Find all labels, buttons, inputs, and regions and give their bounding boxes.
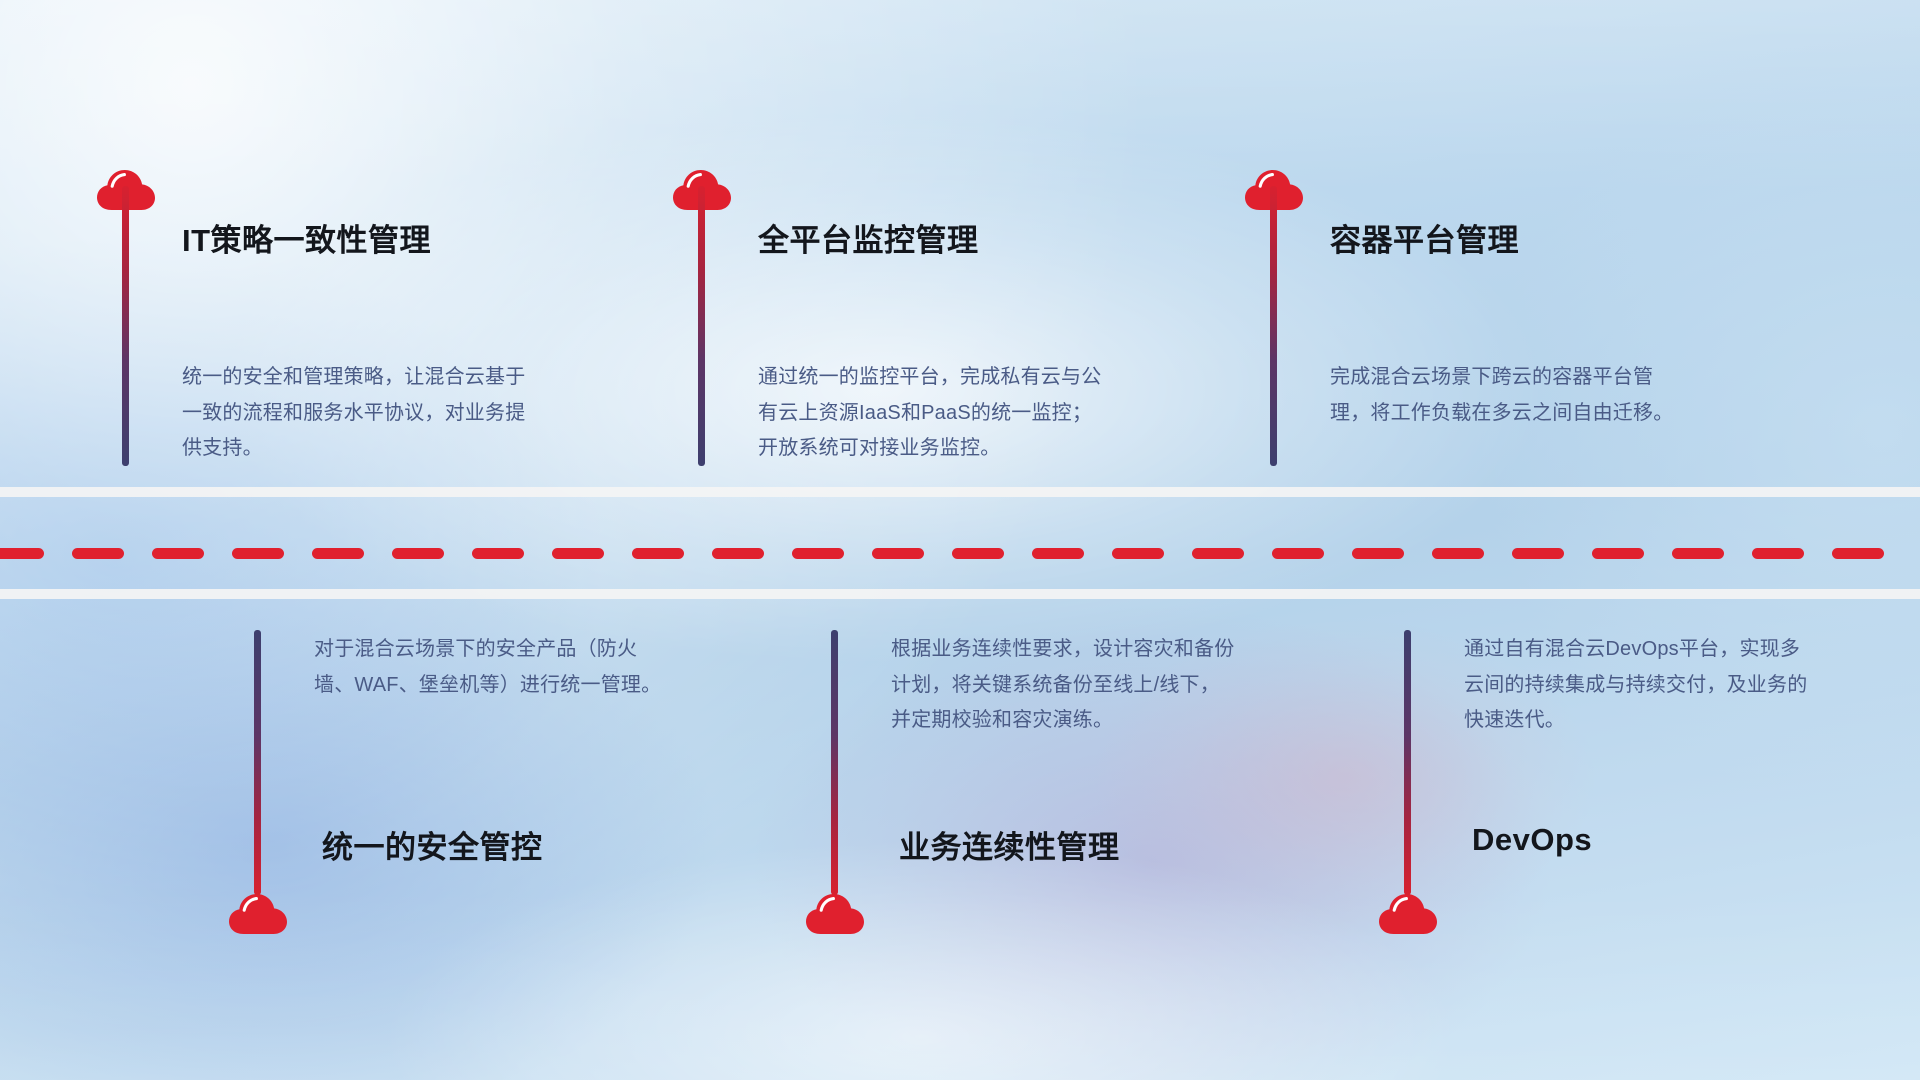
- card-body: 根据业务连续性要求，设计容灾和备份计划，将关键系统备份至线上/线下，并定期校验和…: [891, 632, 1239, 739]
- card-title: DevOps: [1472, 822, 1592, 858]
- dash-segment: [232, 548, 284, 559]
- card-body: 统一的安全和管理策略，让混合云基于一致的流程和服务水平协议，对业务提供支持。: [182, 360, 530, 467]
- card-body: 对于混合云场景下的安全产品（防火墙、WAF、堡垒机等）进行统一管理。: [314, 632, 662, 703]
- cloud-pin-icon: [1378, 890, 1438, 936]
- dash-segment: [792, 548, 844, 559]
- connector-stem: [122, 186, 129, 466]
- cloud-pin-icon: [228, 890, 288, 936]
- dash-segment: [1112, 548, 1164, 559]
- dash-segment: [472, 548, 524, 559]
- connector-stem: [1404, 630, 1411, 895]
- connector-stem: [698, 186, 705, 466]
- dash-segment: [552, 548, 604, 559]
- dash-segment: [1192, 548, 1244, 559]
- dash-segment: [152, 548, 204, 559]
- dash-segment: [712, 548, 764, 559]
- dash-segment: [1272, 548, 1324, 559]
- dash-segment: [1752, 548, 1804, 559]
- connector-stem: [831, 630, 838, 895]
- dash-segment: [1432, 548, 1484, 559]
- connector-stem: [1270, 186, 1277, 466]
- dash-segment: [1352, 548, 1404, 559]
- dash-segment: [872, 548, 924, 559]
- card-title: 全平台监控管理: [758, 215, 979, 260]
- card-body: 通过自有混合云DevOps平台，实现多云间的持续集成与持续交付，及业务的快速迭代…: [1464, 632, 1812, 739]
- dash-segment: [1672, 548, 1724, 559]
- divider-line-lower: [0, 589, 1920, 599]
- card-title: 统一的安全管控: [322, 822, 543, 867]
- dash-segment: [1592, 548, 1644, 559]
- dash-segment: [72, 548, 124, 559]
- divider-dashed-red: [0, 548, 1920, 559]
- cloud-pin-icon: [805, 890, 865, 936]
- dash-segment: [1512, 548, 1564, 559]
- card-title: 业务连续性管理: [899, 822, 1120, 867]
- card-body: 完成混合云场景下跨云的容器平台管理，将工作负载在多云之间自由迁移。: [1330, 360, 1678, 431]
- dash-track: [0, 548, 1920, 559]
- divider-line-upper: [0, 487, 1920, 497]
- dash-segment: [392, 548, 444, 559]
- dash-segment: [1032, 548, 1084, 559]
- background-vignette: [0, 0, 1920, 1080]
- dash-segment: [312, 548, 364, 559]
- dash-segment: [1832, 548, 1884, 559]
- card-title: IT策略一致性管理: [182, 215, 431, 260]
- dash-segment: [632, 548, 684, 559]
- dash-segment: [0, 548, 44, 559]
- card-title: 容器平台管理: [1330, 215, 1519, 260]
- connector-stem: [254, 630, 261, 895]
- card-body: 通过统一的监控平台，完成私有云与公有云上资源IaaS和PaaS的统一监控；开放系…: [758, 360, 1106, 467]
- infographic-canvas: IT策略一致性管理 统一的安全和管理策略，让混合云基于一致的流程和服务水平协议，…: [0, 0, 1920, 1080]
- dash-segment: [952, 548, 1004, 559]
